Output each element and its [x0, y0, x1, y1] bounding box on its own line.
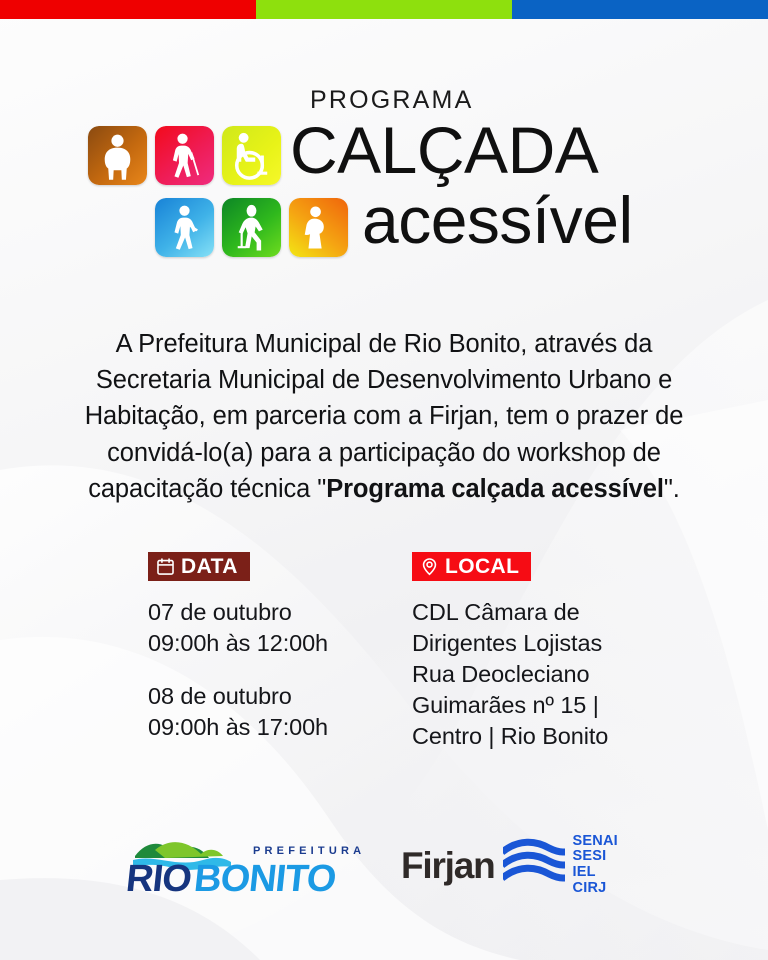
invitation-quote-open: ": [317, 475, 326, 503]
topbar-segment-green: [256, 0, 512, 19]
date-badge: DATA: [148, 552, 250, 581]
firjan-brand: SESI: [573, 849, 618, 865]
event-date-column: DATA 07 de outubro 09:00h às 12:00h 08 d…: [148, 552, 412, 752]
location-address: CDL Câmara de Dirigentes Lojistas Rua De…: [412, 597, 676, 752]
event-details: DATA 07 de outubro 09:00h às 12:00h 08 d…: [0, 552, 768, 752]
top-color-bar: [0, 0, 768, 19]
flyer-canvas: PROGRAMA CALÇADA acessível A Prefeitura …: [0, 0, 768, 960]
address-line: Centro | Rio Bonito: [412, 721, 676, 752]
location-badge-label: LOCAL: [445, 556, 519, 577]
date-day: 08 de outubro: [148, 681, 412, 712]
invitation-program-name: Programa calçada acessível: [326, 475, 664, 503]
date-list: 07 de outubro 09:00h às 12:00h 08 de out…: [148, 597, 412, 743]
rio-bonito-logo: PREFEITURA RIO BONITO: [125, 834, 365, 896]
program-wordmark: PROGRAMA CALÇADA acessível: [290, 88, 710, 251]
invitation-quote-close: ": [664, 475, 673, 503]
date-day: 07 de outubro: [148, 597, 412, 628]
calendar-icon: [156, 557, 175, 576]
person-walking-icon: [155, 198, 214, 257]
location-badge: LOCAL: [412, 552, 531, 581]
address-line: Dirigentes Lojistas: [412, 628, 676, 659]
date-badge-label: DATA: [181, 556, 238, 577]
wordmark-kicker: PROGRAMA: [310, 88, 710, 113]
person-crutch-icon: [222, 198, 281, 257]
svg-text:PREFEITURA: PREFEITURA: [253, 845, 365, 857]
person-obese-icon: [88, 126, 147, 185]
event-location-column: LOCAL CDL Câmara de Dirigentes Lojistas …: [412, 552, 676, 752]
invitation-paragraph: A Prefeitura Municipal de Rio Bonito, at…: [64, 326, 704, 508]
invitation-period: .: [673, 475, 680, 503]
firjan-brand: CIRJ: [573, 881, 618, 897]
wordmark-line-2: acessível: [362, 189, 710, 251]
firjan-brand: SENAI: [573, 834, 618, 850]
footer-logos: PREFEITURA RIO BONITO Firjan SENAI SESI …: [0, 826, 768, 904]
date-time: 09:00h às 17:00h: [148, 712, 412, 743]
firjan-logo: Firjan SENAI SESI IEL CIRJ: [401, 834, 643, 896]
firjan-wave-icon: [503, 838, 565, 893]
date-entry: 07 de outubro 09:00h às 12:00h: [148, 597, 412, 659]
program-logo: PROGRAMA CALÇADA acessível: [0, 88, 768, 278]
wheelchair-icon: [222, 126, 281, 185]
person-blind-cane-icon: [155, 126, 214, 185]
svg-text:BONITO: BONITO: [192, 858, 338, 896]
date-time: 09:00h às 12:00h: [148, 628, 412, 659]
wordmark-line-1: CALÇADA: [290, 119, 710, 181]
address-line: Guimarães nº 15 |: [412, 690, 676, 721]
address-line: Rua Deocleciano: [412, 659, 676, 690]
svg-text:RIO: RIO: [125, 858, 193, 896]
date-entry: 08 de outubro 09:00h às 17:00h: [148, 681, 412, 743]
address-line: CDL Câmara de: [412, 597, 676, 628]
firjan-brand: IEL: [573, 865, 618, 881]
topbar-segment-red: [0, 0, 256, 19]
map-pin-icon: [420, 557, 439, 576]
firjan-wordmark: Firjan: [401, 847, 495, 884]
topbar-segment-blue: [512, 0, 768, 19]
firjan-brands-list: SENAI SESI IEL CIRJ: [573, 834, 618, 897]
